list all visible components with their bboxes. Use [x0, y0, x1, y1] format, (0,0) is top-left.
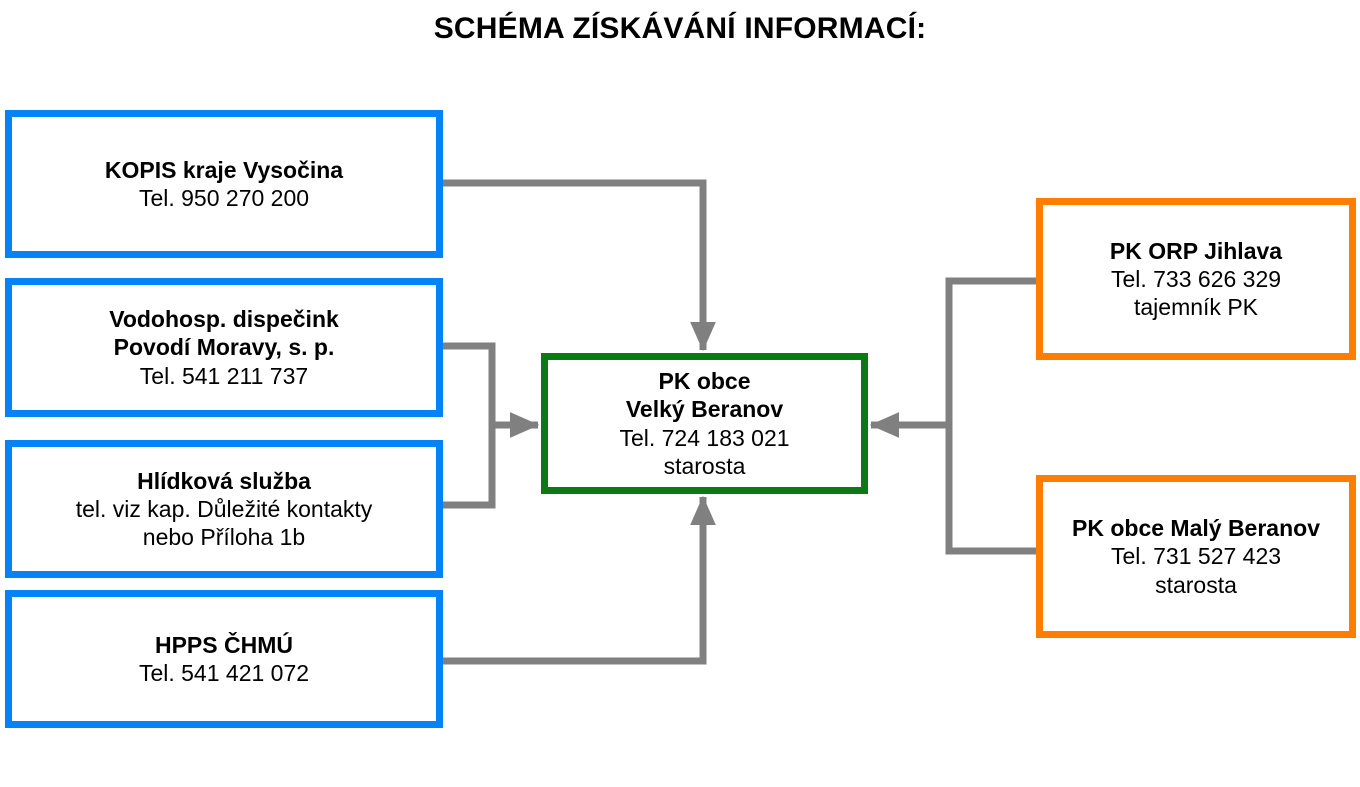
edge-hpps-to-central — [443, 497, 703, 661]
node-pk-orp-jihlava-line2: Tel. 733 626 329 — [1043, 265, 1349, 293]
node-pk-orp-jihlava-line1: PK ORP Jihlava — [1043, 237, 1349, 265]
node-hlidkova-line2: tel. viz kap. Důležité kontakty — [12, 495, 436, 523]
node-central-line4: starosta — [548, 452, 861, 480]
node-hpps-line2: Tel. 541 421 072 — [12, 659, 436, 687]
node-vodohosp-line1: Vodohosp. dispečink — [12, 305, 436, 333]
node-vodohosp-line2: Povodí Moravy, s. p. — [12, 333, 436, 361]
edge-hlidkova-bus — [443, 425, 492, 505]
node-hlidkova-sluzba[interactable]: Hlídková služba tel. viz kap. Důležité k… — [5, 440, 443, 578]
edge-pk-orp-jihlava-bus — [949, 281, 1036, 425]
node-hpps-chmu[interactable]: HPPS ČHMÚ Tel. 541 421 072 — [5, 590, 443, 728]
node-pk-obce-maly-beranov[interactable]: PK obce Malý Beranov Tel. 731 527 423 st… — [1036, 475, 1356, 638]
node-pk-maly-beranov-line3: starosta — [1043, 571, 1349, 599]
node-kopis-kraje-vysocina[interactable]: KOPIS kraje Vysočina Tel. 950 270 200 — [5, 110, 443, 258]
node-pk-maly-beranov-line1: PK obce Malý Beranov — [1043, 514, 1349, 542]
edge-vodohosp-bus — [443, 346, 492, 425]
node-vodohosp-line3: Tel. 541 211 737 — [12, 362, 436, 390]
node-kopis-line2: Tel. 950 270 200 — [12, 184, 436, 212]
diagram-canvas: SCHÉMA ZÍSKÁVÁNÍ INFORMACÍ: KOPIS kraje … — [0, 0, 1360, 787]
node-central-line2: Velký Beranov — [548, 395, 861, 423]
node-hlidkova-line1: Hlídková služba — [12, 467, 436, 495]
node-pk-obce-velky-beranov[interactable]: PK obce Velký Beranov Tel. 724 183 021 s… — [541, 353, 868, 494]
node-vodohospodarsky-dispecink[interactable]: Vodohosp. dispečink Povodí Moravy, s. p.… — [5, 278, 443, 417]
node-central-line3: Tel. 724 183 021 — [548, 424, 861, 452]
page-title: SCHÉMA ZÍSKÁVÁNÍ INFORMACÍ: — [0, 12, 1360, 46]
node-hlidkova-line3: nebo Příloha 1b — [12, 523, 436, 551]
node-pk-orp-jihlava-line3: tajemník PK — [1043, 293, 1349, 321]
node-pk-maly-beranov-line2: Tel. 731 527 423 — [1043, 542, 1349, 570]
edge-kopis-to-central — [443, 183, 703, 350]
node-kopis-line1: KOPIS kraje Vysočina — [12, 156, 436, 184]
node-central-line1: PK obce — [548, 367, 861, 395]
edge-pk-maly-beranov-bus — [949, 425, 1036, 551]
node-pk-orp-jihlava[interactable]: PK ORP Jihlava Tel. 733 626 329 tajemník… — [1036, 198, 1356, 360]
node-hpps-line1: HPPS ČHMÚ — [12, 631, 436, 659]
